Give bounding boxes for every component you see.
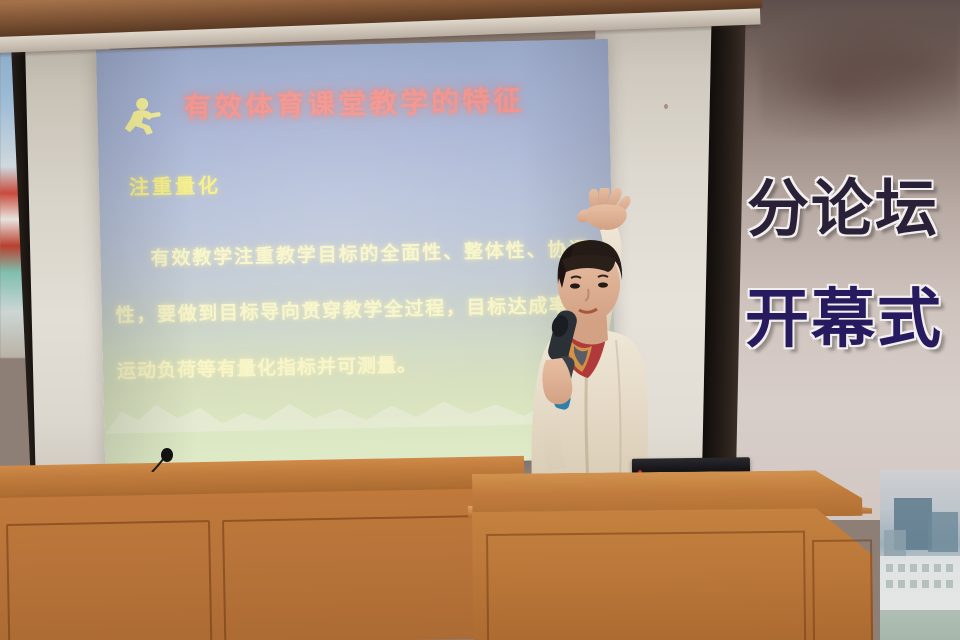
podium-panel-1 [486, 531, 806, 640]
eye-left [570, 283, 580, 288]
wall-speck [664, 104, 668, 109]
photo-scene: 分论坛 开幕式 有效体育课堂教学的特征 注重量化 有效教学注重教学目标的全面性、… [0, 0, 960, 640]
wall-banner-line-2: 开幕式 [745, 268, 943, 360]
presenter-figure [496, 188, 726, 488]
cityscape-poster [880, 470, 960, 640]
wall-banner-line-1: 分论坛 [747, 158, 939, 248]
open-hand [577, 188, 631, 230]
wall-stain [760, 18, 960, 138]
gooseneck-microphone [150, 448, 176, 472]
podium-panel-2 [812, 539, 873, 640]
desk-panel-1 [6, 520, 212, 640]
eye-right [598, 282, 608, 287]
